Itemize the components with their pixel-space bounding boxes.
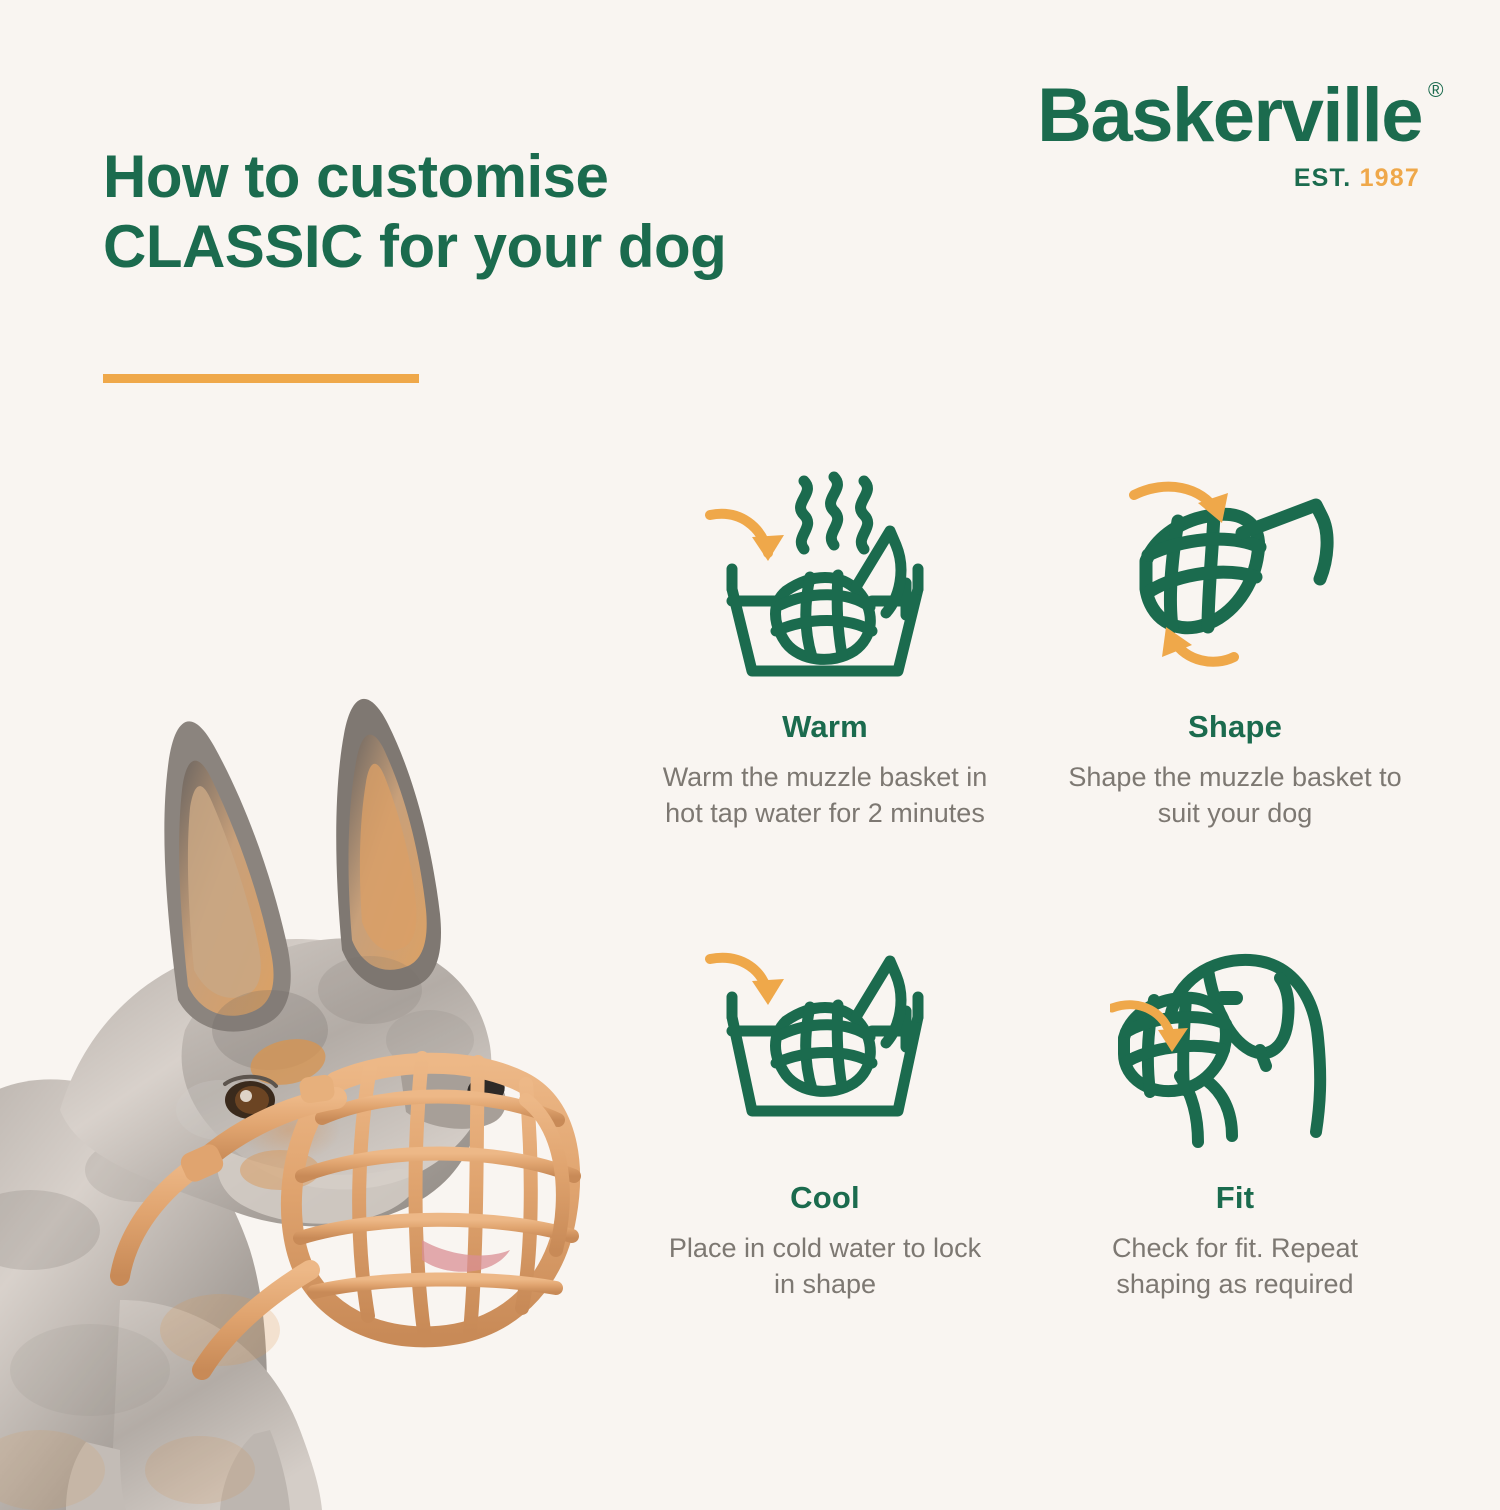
customise-steps-grid: Warm Warm the muzzle basket in hot tap w… bbox=[630, 455, 1430, 1335]
step-cool: Cool Place in cold water to lock in shap… bbox=[630, 926, 1020, 1335]
established-line: EST. 1987 bbox=[1037, 166, 1420, 191]
brand-wordmark: Baskerville® bbox=[1037, 78, 1422, 154]
basin-with-steam-icon bbox=[700, 455, 950, 705]
step-title: Warm bbox=[782, 709, 868, 745]
step-shape: Shape Shape the muzzle basket to suit yo… bbox=[1040, 455, 1430, 864]
muzzle-squeeze-arrows-icon bbox=[1110, 455, 1360, 705]
step-description: Check for fit. Repeat shaping as require… bbox=[1065, 1230, 1405, 1303]
established-year: 1987 bbox=[1360, 164, 1420, 192]
step-title: Shape bbox=[1188, 709, 1282, 745]
basin-cold-water-icon bbox=[700, 926, 950, 1176]
step-title: Cool bbox=[790, 1180, 860, 1216]
page-title-line-2: CLASSIC for your dog bbox=[103, 212, 923, 282]
dog-with-muzzle-photo bbox=[0, 470, 610, 1510]
page-title-line-1: How to customise bbox=[103, 142, 923, 212]
brand-logo: Baskerville® EST. 1987 bbox=[1037, 78, 1422, 191]
dog-head-with-muzzle-icon bbox=[1110, 926, 1360, 1176]
title-underline-rule bbox=[103, 374, 419, 383]
step-description: Shape the muzzle basket to suit your dog bbox=[1065, 759, 1405, 832]
step-description: Warm the muzzle basket in hot tap water … bbox=[660, 759, 990, 832]
step-fit: Fit Check for fit. Repeat shaping as req… bbox=[1040, 926, 1430, 1335]
brand-wordmark-text: Baskerville bbox=[1037, 73, 1422, 158]
step-title: Fit bbox=[1216, 1180, 1254, 1216]
registered-trademark-icon: ® bbox=[1428, 80, 1442, 101]
page-title: How to customise CLASSIC for your dog bbox=[103, 142, 923, 281]
step-warm: Warm Warm the muzzle basket in hot tap w… bbox=[630, 455, 1020, 864]
step-description: Place in cold water to lock in shape bbox=[660, 1230, 990, 1303]
established-label: EST. bbox=[1294, 164, 1352, 192]
